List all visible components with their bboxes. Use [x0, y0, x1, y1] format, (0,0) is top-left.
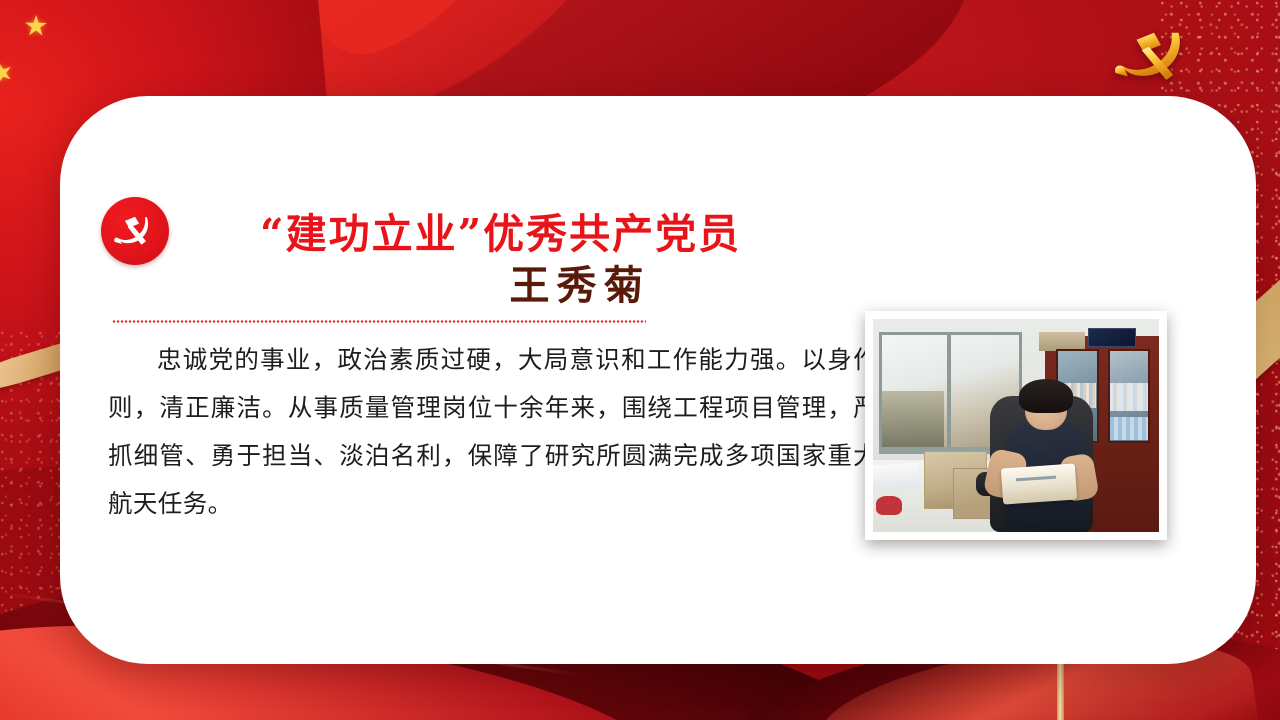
gold-pole-accent	[1057, 662, 1064, 720]
silk-ribbon-top-fold	[245, 0, 574, 68]
photo-window-mullion	[947, 332, 951, 451]
page-title: “建功立业”优秀共产党员	[260, 200, 960, 260]
photo-papers	[873, 462, 919, 491]
photo-person-hair	[1019, 379, 1073, 413]
person-photo-frame	[865, 311, 1167, 540]
dotted-divider	[112, 320, 646, 323]
hammer-and-sickle-icon	[1108, 24, 1200, 94]
flag-star-small-3: ★	[23, 12, 49, 40]
party-emblem-icon	[101, 197, 169, 265]
body-paragraph-text: 忠诚党的事业，政治素质过硬，大局意识和工作能力强。以身作则，清正廉洁。从事质量管…	[108, 336, 878, 528]
photo-red-object	[876, 496, 902, 515]
photo-monitor	[1088, 328, 1137, 347]
flag-star-small-4: ★	[0, 57, 17, 89]
person-photo	[873, 319, 1159, 532]
person-name: 王秀菊	[260, 253, 900, 311]
photo-open-book	[1001, 463, 1078, 504]
photo-window-view	[882, 391, 945, 446]
content-card: “建功立业”优秀共产党员 王秀菊 忠诚党的事业，政治素质过硬，大局意识和工作能力…	[60, 96, 1256, 664]
photo-books-2	[1110, 383, 1147, 411]
slide-root: ★ ★ ★ ★ ★	[0, 0, 1280, 720]
photo-books-3	[1110, 417, 1147, 440]
body-paragraph: 忠诚党的事业，政治素质过硬，大局意识和工作能力强。以身作则，清正廉洁。从事质量管…	[108, 336, 878, 528]
